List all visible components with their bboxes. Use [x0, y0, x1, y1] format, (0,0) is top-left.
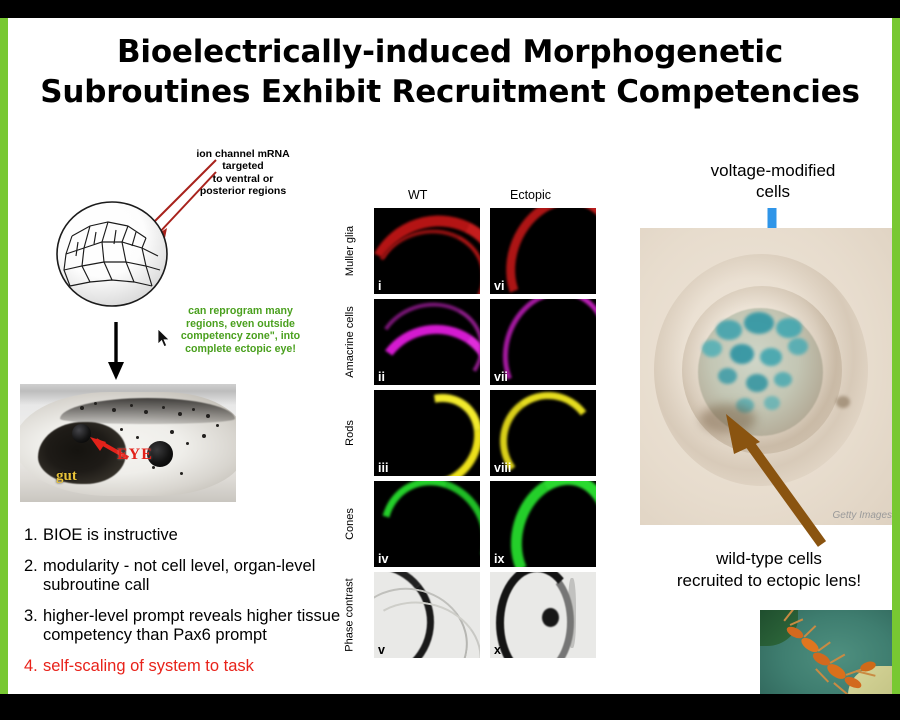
bottom-black-bar — [0, 694, 900, 720]
panel-ii: ii — [374, 299, 480, 385]
panel-label: x — [494, 643, 501, 657]
row-label-cones: Cones — [343, 481, 357, 567]
green-note-line-4: complete ectopic eye! — [158, 343, 323, 356]
voltage-label-line-1: voltage-modified — [648, 160, 892, 181]
grid-row-amacrine-cells: Amacrine cells ii vii — [360, 299, 600, 385]
grid-row-muller-glia: Muller glia i vi — [360, 208, 600, 294]
panel-label: viii — [494, 461, 511, 475]
panel-iii: iii — [374, 390, 480, 476]
grid-row-rods: Rods iii viii — [360, 390, 600, 476]
panel-x: x — [490, 572, 596, 658]
panel-vii: vii — [490, 299, 596, 385]
title-line-2: Subroutines Exhibit Recruitment Competen… — [8, 72, 892, 112]
grid-column-headers: WT Ectopic — [360, 186, 600, 208]
green-annotation: can reprogram many regions, even outside… — [158, 305, 323, 355]
list-item-text: self-scaling of system to task — [43, 657, 344, 677]
list-item: 1. BIOE is instructive — [24, 526, 344, 546]
list-item-number: 1. — [24, 526, 43, 546]
column-header-ectopic: Ectopic — [510, 188, 551, 202]
panel-label: vii — [494, 370, 508, 384]
list-item: 4. self-scaling of system to task — [24, 657, 344, 677]
panel-label: iii — [378, 461, 388, 475]
panel-label: v — [378, 643, 385, 657]
transition-arrow-down — [96, 320, 136, 382]
list-item: 2. modularity - not cell level, organ-le… — [24, 557, 344, 596]
row-label-amacrine-cells: Amacrine cells — [343, 299, 357, 385]
panel-label: vi — [494, 279, 504, 293]
row-label-muller-glia: Muller glia — [343, 208, 357, 294]
list-item-text: higher-level prompt reveals higher tissu… — [43, 607, 344, 646]
list-item-text: BIOE is instructive — [43, 526, 344, 546]
mouse-cursor — [158, 329, 171, 348]
slide: Bioelectrically-induced Morphogenetic Su… — [0, 0, 900, 720]
panel-label: i — [378, 279, 381, 293]
panel-i: i — [374, 208, 480, 294]
panel-viii: viii — [490, 390, 596, 476]
wild-type-caption: wild-type cells recruited to ectopic len… — [638, 548, 892, 592]
panel-iv: iv — [374, 481, 480, 567]
green-note-line-3: competency zone", into — [158, 330, 323, 343]
wt-caption-line-2: recruited to ectopic lens! — [638, 570, 892, 592]
panel-ix: ix — [490, 481, 596, 567]
voltage-modified-label: voltage-modified cells — [648, 160, 892, 202]
grid-row-cones: Cones iv ix — [360, 481, 600, 567]
row-label-phase-contrast: Phase contrast — [343, 572, 357, 658]
slide-canvas: Bioelectrically-induced Morphogenetic Su… — [8, 18, 892, 694]
gut-label: gut — [56, 468, 77, 485]
microscopy-grid: WT Ectopic Muller glia i vi — [360, 186, 600, 663]
eye-label: EYE — [117, 446, 153, 464]
row-label-rods: Rods — [343, 390, 357, 476]
panel-vi: vi — [490, 208, 596, 294]
column-header-wt: WT — [408, 188, 427, 202]
list-item-number: 2. — [24, 557, 43, 596]
title-line-1: Bioelectrically-induced Morphogenetic — [8, 32, 892, 72]
wt-caption-line-1: wild-type cells — [638, 548, 892, 570]
tadpole-photo: gut EYE — [20, 384, 236, 502]
green-note-line-1: can reprogram many — [158, 305, 323, 318]
voltage-label-line-2: cells — [648, 181, 892, 202]
list-item-number: 3. — [24, 607, 43, 646]
getty-watermark: Getty Images — [833, 510, 892, 521]
green-note-line-2: regions, even outside — [158, 318, 323, 331]
conclusions-list: 1. BIOE is instructive 2. modularity - n… — [24, 526, 344, 687]
wild-type-recruitment-arrow — [698, 398, 828, 548]
top-black-bar — [0, 0, 900, 18]
panel-label: ix — [494, 552, 504, 566]
list-item: 3. higher-level prompt reveals higher ti… — [24, 607, 344, 646]
list-item-number: 4. — [24, 657, 43, 677]
panel-label: iv — [378, 552, 388, 566]
grid-row-phase-contrast: Phase contrast v x — [360, 572, 600, 658]
list-item-text: modularity - not cell level, organ-level… — [43, 557, 344, 596]
ant-bridge-photo — [760, 610, 892, 694]
embryo-diagram — [50, 196, 175, 311]
panel-label: ii — [378, 370, 385, 384]
slide-title: Bioelectrically-induced Morphogenetic Su… — [8, 32, 892, 112]
panel-v: v — [374, 572, 480, 658]
